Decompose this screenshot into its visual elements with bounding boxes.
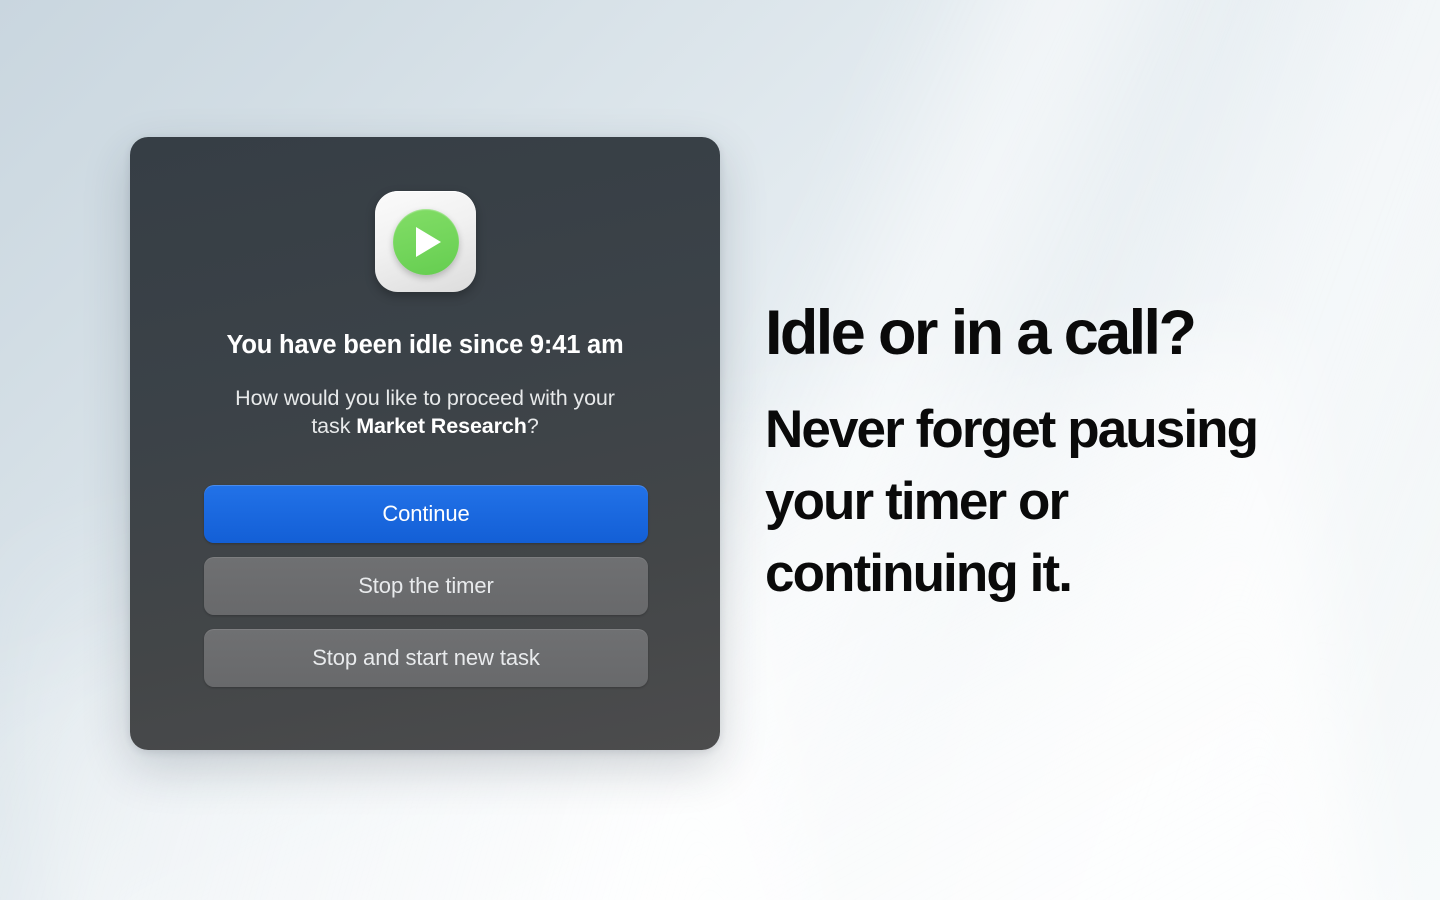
app-icon-wrapper — [375, 191, 476, 292]
marketing-subheadline: Never forget pausing your timer or conti… — [765, 394, 1325, 610]
play-triangle-icon — [416, 227, 441, 257]
stop-and-start-new-task-button[interactable]: Stop and start new task — [204, 629, 648, 687]
promo-screen: You have been idle since 9:41 am How wou… — [0, 0, 1440, 900]
dialog-body-suffix: ? — [527, 414, 539, 438]
play-icon — [393, 209, 459, 275]
dialog-button-stack: Continue Stop the timer Stop and start n… — [204, 485, 648, 701]
dialog-body-task-name: Market Research — [356, 414, 527, 438]
dialog-body: How would you like to proceed with your … — [225, 384, 625, 440]
marketing-copy: Idle or in a call? Never forget pausing … — [765, 296, 1385, 610]
dialog-title: You have been idle since 9:41 am — [130, 331, 720, 360]
marketing-headline: Idle or in a call? — [765, 296, 1385, 370]
stop-timer-button[interactable]: Stop the timer — [204, 557, 648, 615]
continue-button[interactable]: Continue — [204, 485, 648, 543]
play-app-icon — [375, 191, 476, 292]
idle-dialog: You have been idle since 9:41 am How wou… — [130, 137, 720, 750]
